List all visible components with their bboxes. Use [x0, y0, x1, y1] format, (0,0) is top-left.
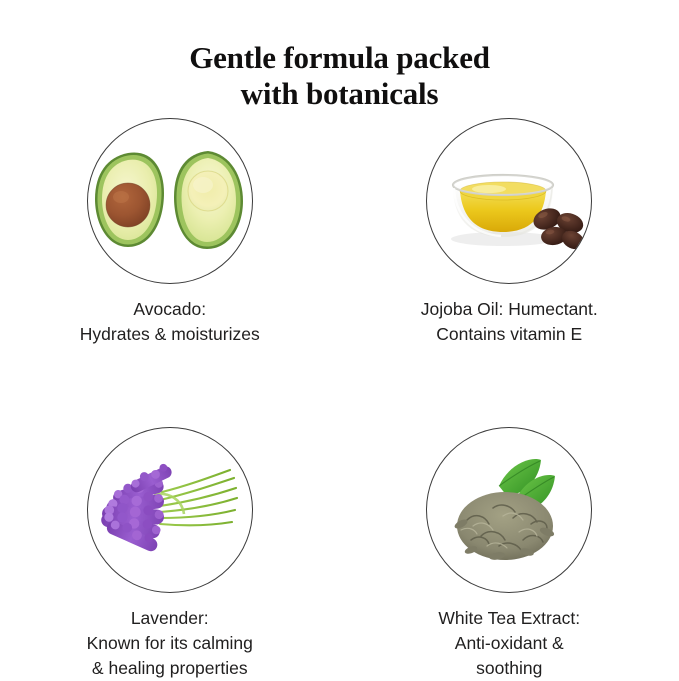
caption-line: Contains vitamin E	[349, 322, 669, 347]
ingredient-avocado-circle	[87, 118, 253, 284]
ingredient-avocado-caption: Avocado: Hydrates & moisturizes	[10, 297, 330, 347]
caption-line: Avocado:	[10, 297, 330, 322]
page-title-line-1: Gentle formula packed	[0, 40, 679, 76]
jojoba-oil-bowl-icon	[427, 119, 591, 283]
caption-line: Jojoba Oil: Humectant.	[349, 297, 669, 322]
ingredient-lavender-circle	[87, 427, 253, 593]
caption-line: Lavender:	[10, 606, 330, 631]
ingredient-white-tea-extract-circle	[426, 427, 592, 593]
caption-line: Hydrates & moisturizes	[10, 322, 330, 347]
ingredient-infographic: Gentle formula packed with botanicals	[0, 0, 679, 679]
ingredient-row-2: Lavender: Known for its calming & healin…	[0, 427, 679, 681]
caption-line: Known for its calming	[10, 631, 330, 656]
page-title-line-2: with botanicals	[0, 76, 679, 112]
caption-line: Anti-oxidant &	[349, 631, 669, 656]
avocado-halves-icon	[88, 119, 252, 283]
ingredient-lavender-caption: Lavender: Known for its calming & healin…	[10, 606, 330, 681]
ingredient-avocado: Avocado: Hydrates & moisturizes	[0, 118, 340, 347]
ingredient-jojoba-oil-caption: Jojoba Oil: Humectant. Contains vitamin …	[349, 297, 669, 347]
page-title: Gentle formula packed with botanicals	[0, 40, 679, 112]
ingredient-white-tea-extract-caption: White Tea Extract: Anti-oxidant & soothi…	[349, 606, 669, 681]
ingredient-jojoba-oil: Jojoba Oil: Humectant. Contains vitamin …	[340, 118, 679, 347]
ingredient-jojoba-oil-circle	[426, 118, 592, 284]
white-tea-leaves-icon	[427, 428, 591, 592]
caption-line: White Tea Extract:	[349, 606, 669, 631]
caption-line: soothing	[349, 656, 669, 681]
lavender-bunch-icon	[88, 428, 252, 592]
ingredient-lavender: Lavender: Known for its calming & healin…	[0, 427, 340, 681]
ingredient-row-1: Avocado: Hydrates & moisturizes	[0, 118, 679, 347]
ingredient-white-tea-extract: White Tea Extract: Anti-oxidant & soothi…	[340, 427, 679, 681]
caption-line: & healing properties	[10, 656, 330, 681]
ingredient-grid: Avocado: Hydrates & moisturizes	[0, 118, 679, 681]
